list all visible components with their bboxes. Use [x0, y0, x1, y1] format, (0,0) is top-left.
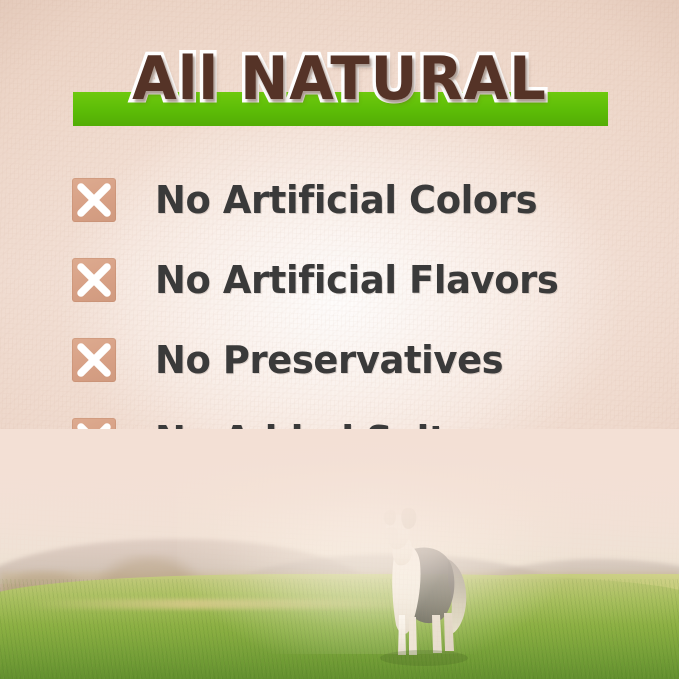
claim-label: No Preservatives [155, 338, 503, 382]
dog-photo-subject [352, 503, 482, 671]
claim-label: No Artificial Colors [155, 178, 537, 222]
headline-banner: All NATURAL [0, 44, 679, 140]
x-mark-icon [72, 258, 116, 302]
x-mark-icon [72, 338, 116, 382]
claim-row: No Preservatives [72, 332, 632, 388]
claim-row: No Artificial Colors [72, 172, 632, 228]
headline-title: All NATURAL [14, 44, 666, 114]
landscape-photo [0, 429, 679, 679]
photo-scene [0, 429, 679, 679]
claim-label: No Artificial Flavors [155, 258, 558, 302]
claim-row: No Artificial Flavors [72, 252, 632, 308]
x-mark-icon [72, 178, 116, 222]
grass-texture [0, 579, 679, 679]
all-natural-product-callout: All NATURAL No Artificial Colors [0, 0, 679, 679]
